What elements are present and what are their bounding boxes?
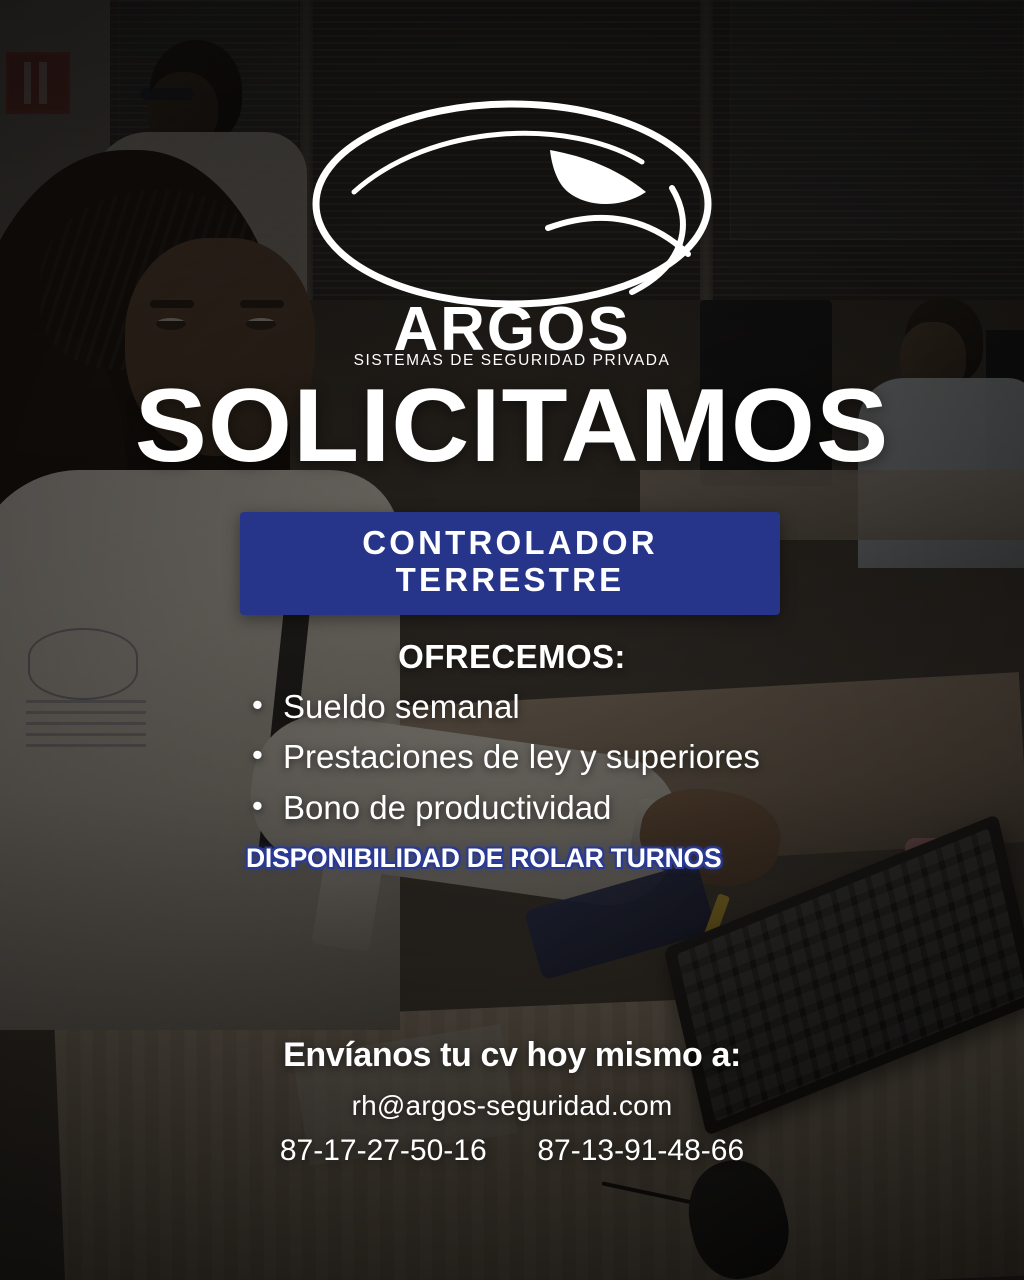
job-posting-poster: ARGOS SISTEMAS DE SEGURIDAD PRIVADA SOLI… — [0, 0, 1024, 1280]
contact-phone-2[interactable]: 87-13-91-48-66 — [537, 1134, 744, 1167]
list-item: Sueldo semanal — [248, 682, 760, 732]
cv-call-to-action: Envíanos tu cv hoy mismo a: — [0, 1036, 1024, 1075]
contact-phone-1[interactable]: 87-17-27-50-16 — [280, 1134, 487, 1167]
position-title-line-1: CONTROLADOR — [240, 524, 780, 561]
offers-heading: OFRECEMOS: — [0, 638, 1024, 676]
list-item: Prestaciones de ley y superiores — [248, 732, 760, 782]
position-title-line-2: TERRESTRE — [240, 561, 780, 598]
position-banner: CONTROLADOR TERRESTRE — [240, 512, 780, 615]
contact-email[interactable]: rh@argos-seguridad.com — [0, 1090, 1024, 1122]
argos-logo: ARGOS SISTEMAS DE SEGURIDAD PRIVADA — [0, 96, 1024, 326]
list-item: Bono de productividad — [248, 783, 760, 833]
availability-requirement: DISPONIBILIDAD DE ROLAR TURNOS — [246, 843, 721, 874]
page-title: SOLICITAMOS — [0, 374, 1024, 478]
poster-content: ARGOS SISTEMAS DE SEGURIDAD PRIVADA SOLI… — [0, 0, 1024, 1280]
contact-phones: 87-17-27-50-16 87-13-91-48-66 — [0, 1134, 1024, 1168]
offers-list: Sueldo semanal Prestaciones de ley y sup… — [248, 682, 760, 833]
argos-eagle-oval-logo-icon — [302, 96, 722, 326]
